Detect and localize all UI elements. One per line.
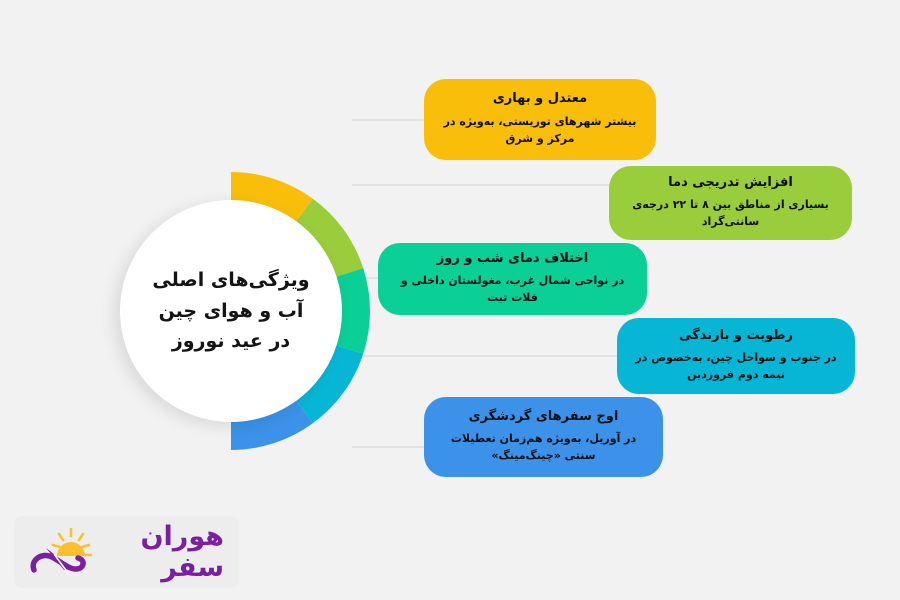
card-title: اختلاف دمای شب و روز <box>437 250 588 268</box>
center-title: ویژگی‌های اصلی آب و هوای چین در عید نورو… <box>120 200 342 422</box>
sun-plane-icon <box>24 526 98 578</box>
infographic-root: ویژگی‌های اصلی آب و هوای چین در عید نورو… <box>0 0 900 600</box>
card-day-night-difference[interactable]: اختلاف دمای شب و روز در نواحی شمال غرب، … <box>378 243 647 315</box>
card-title: معتدل و بهاری <box>493 90 587 108</box>
card-title: رطوبت و بارندگی <box>679 327 793 345</box>
card-gradual-warming[interactable]: افزایش تدریجی دما بسیاری از مناطق بین ۸ … <box>609 166 852 240</box>
donut-chart: ویژگی‌های اصلی آب و هوای چین در عید نورو… <box>103 96 361 486</box>
card-peak-tourism[interactable]: اوج سفرهای گردشگری در آوریل، به‌ویژه هم‌… <box>424 397 663 477</box>
card-title: اوج سفرهای گردشگری <box>469 408 619 426</box>
logo-text: هوران سفر <box>100 521 224 583</box>
card-body: در نواحی شمال غرب، مغولستان داخلی و فلات… <box>394 272 631 306</box>
brand-logo[interactable]: هوران سفر <box>14 516 238 588</box>
card-humidity-rain[interactable]: رطوبت و بارندگی در جنوب و سواحل چین، به‌… <box>617 318 855 394</box>
card-body: در آوریل، به‌ویژه هم‌زمان تعطیلات سنتی «… <box>440 430 647 464</box>
card-moderate-spring[interactable]: معتدل و بهاری بیشتر شهرهای توریستی، به‌و… <box>424 79 656 160</box>
card-body: بسیاری از مناطق بین ۸ تا ۲۲ درجه‌ی سانتی… <box>625 196 836 230</box>
card-body: در جنوب و سواحل چین، به‌خصوص در نیمه دوم… <box>633 349 839 383</box>
card-title: افزایش تدریجی دما <box>668 174 793 192</box>
card-body: بیشتر شهرهای توریستی، به‌ویژه در مرکز و … <box>440 113 640 147</box>
